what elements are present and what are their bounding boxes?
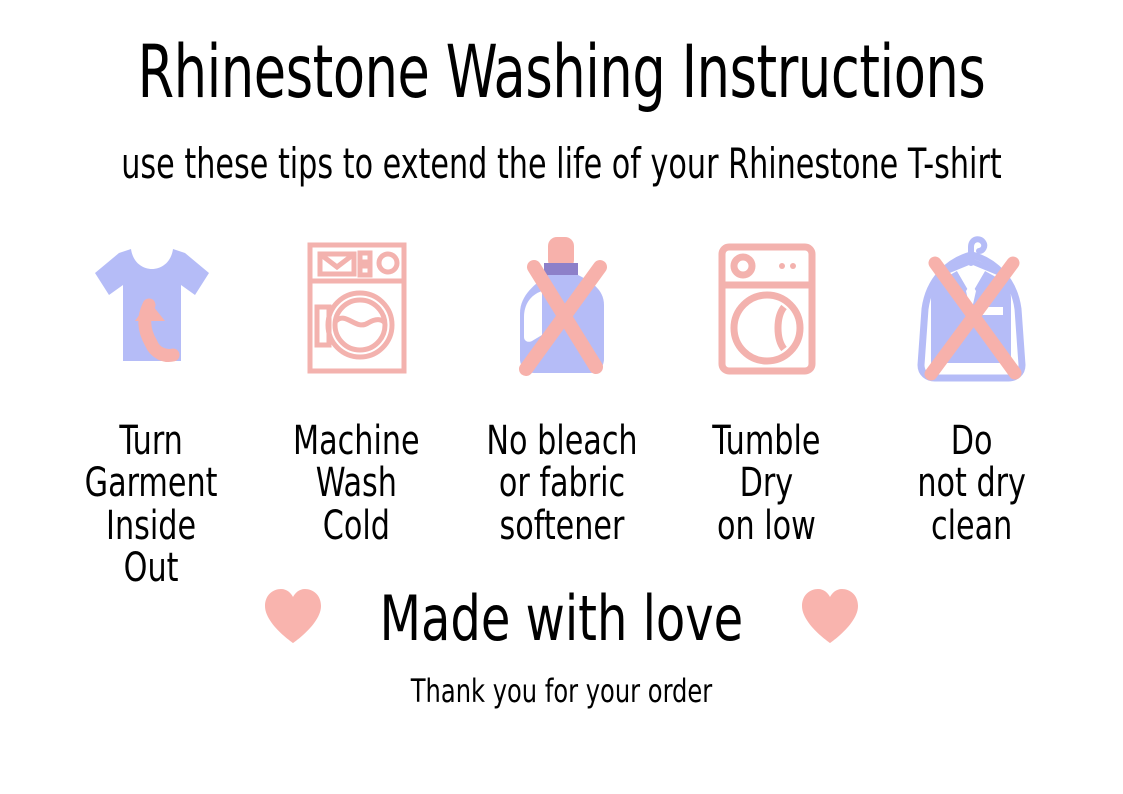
care-item-machine-wash-cold: Machine Wash Cold: [254, 228, 459, 547]
tshirt-inside-out-icon: [77, 228, 227, 388]
page-title: Rhinestone Washing Instructions: [112, 36, 1010, 109]
heart-icon: [799, 588, 861, 650]
no-dry-clean-icon: [897, 228, 1047, 388]
tumble-dryer-icon: [692, 228, 842, 388]
care-item-tumble-dry-low: Tumble Dry on low: [664, 228, 869, 547]
care-item-no-bleach: No bleach or fabric softener: [459, 228, 664, 547]
care-item-turn-inside-out: Turn Garment Inside Out: [49, 228, 254, 590]
care-item-label: No bleach or fabric softener: [486, 420, 637, 547]
made-with-love-row: Made with love: [0, 588, 1123, 650]
care-item-label: Do not dry clean: [917, 420, 1026, 547]
thank-you-text: Thank you for your order: [90, 672, 1033, 710]
washing-machine-icon: [282, 228, 432, 388]
care-instructions-card: Rhinestone Washing Instructions use thes…: [0, 0, 1123, 794]
no-bleach-bottle-icon: [487, 228, 637, 388]
care-item-no-dry-clean: Do not dry clean: [869, 228, 1074, 547]
care-items-row: Turn Garment Inside Out: [0, 228, 1123, 590]
page-subtitle: use these tips to extend the life of you…: [112, 143, 1010, 185]
made-with-love-text: Made with love: [380, 588, 744, 650]
care-item-label: Machine Wash Cold: [293, 420, 420, 547]
care-item-label: Turn Garment Inside Out: [85, 420, 218, 590]
care-item-label: Tumble Dry on low: [712, 420, 820, 547]
heart-icon: [262, 588, 324, 650]
